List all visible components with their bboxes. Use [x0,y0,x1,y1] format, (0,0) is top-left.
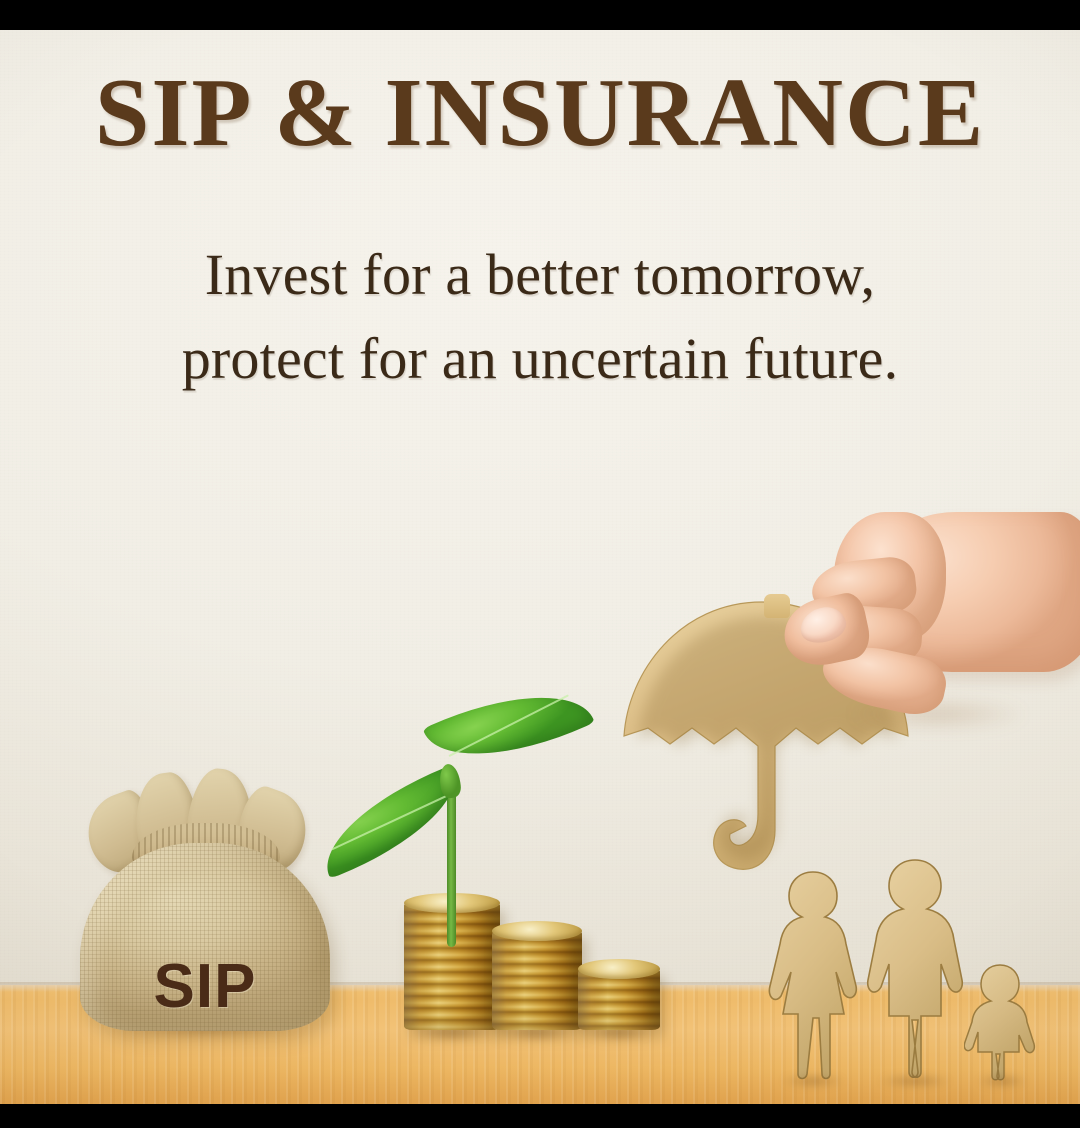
letterbox-bar-top [0,0,1080,30]
coin-top-face [578,959,660,979]
subtitle-line-1: Invest for a better tomorrow, [0,246,1080,304]
family-figure-child [964,962,1040,1084]
hand [778,496,1080,764]
family-figure-woman [764,868,862,1084]
subtitle-line-2: protect for an uncertain future. [0,330,1080,388]
figure-shadow [864,1072,965,1090]
figure-shadow [768,1072,858,1090]
bag-label-sip: SIP [60,951,350,1022]
letterbox-bar-bottom [0,1104,1080,1128]
figure-shadow [967,1072,1037,1090]
page-title: SIP & INSURANCE [0,62,1080,165]
coin-stack-short [578,968,660,1030]
sprout-plant [300,710,600,950]
poster-image: SIP & INSURANCE Invest for a better tomo… [0,0,1080,1128]
poster-canvas: SIP & INSURANCE Invest for a better tomo… [0,30,1080,1104]
